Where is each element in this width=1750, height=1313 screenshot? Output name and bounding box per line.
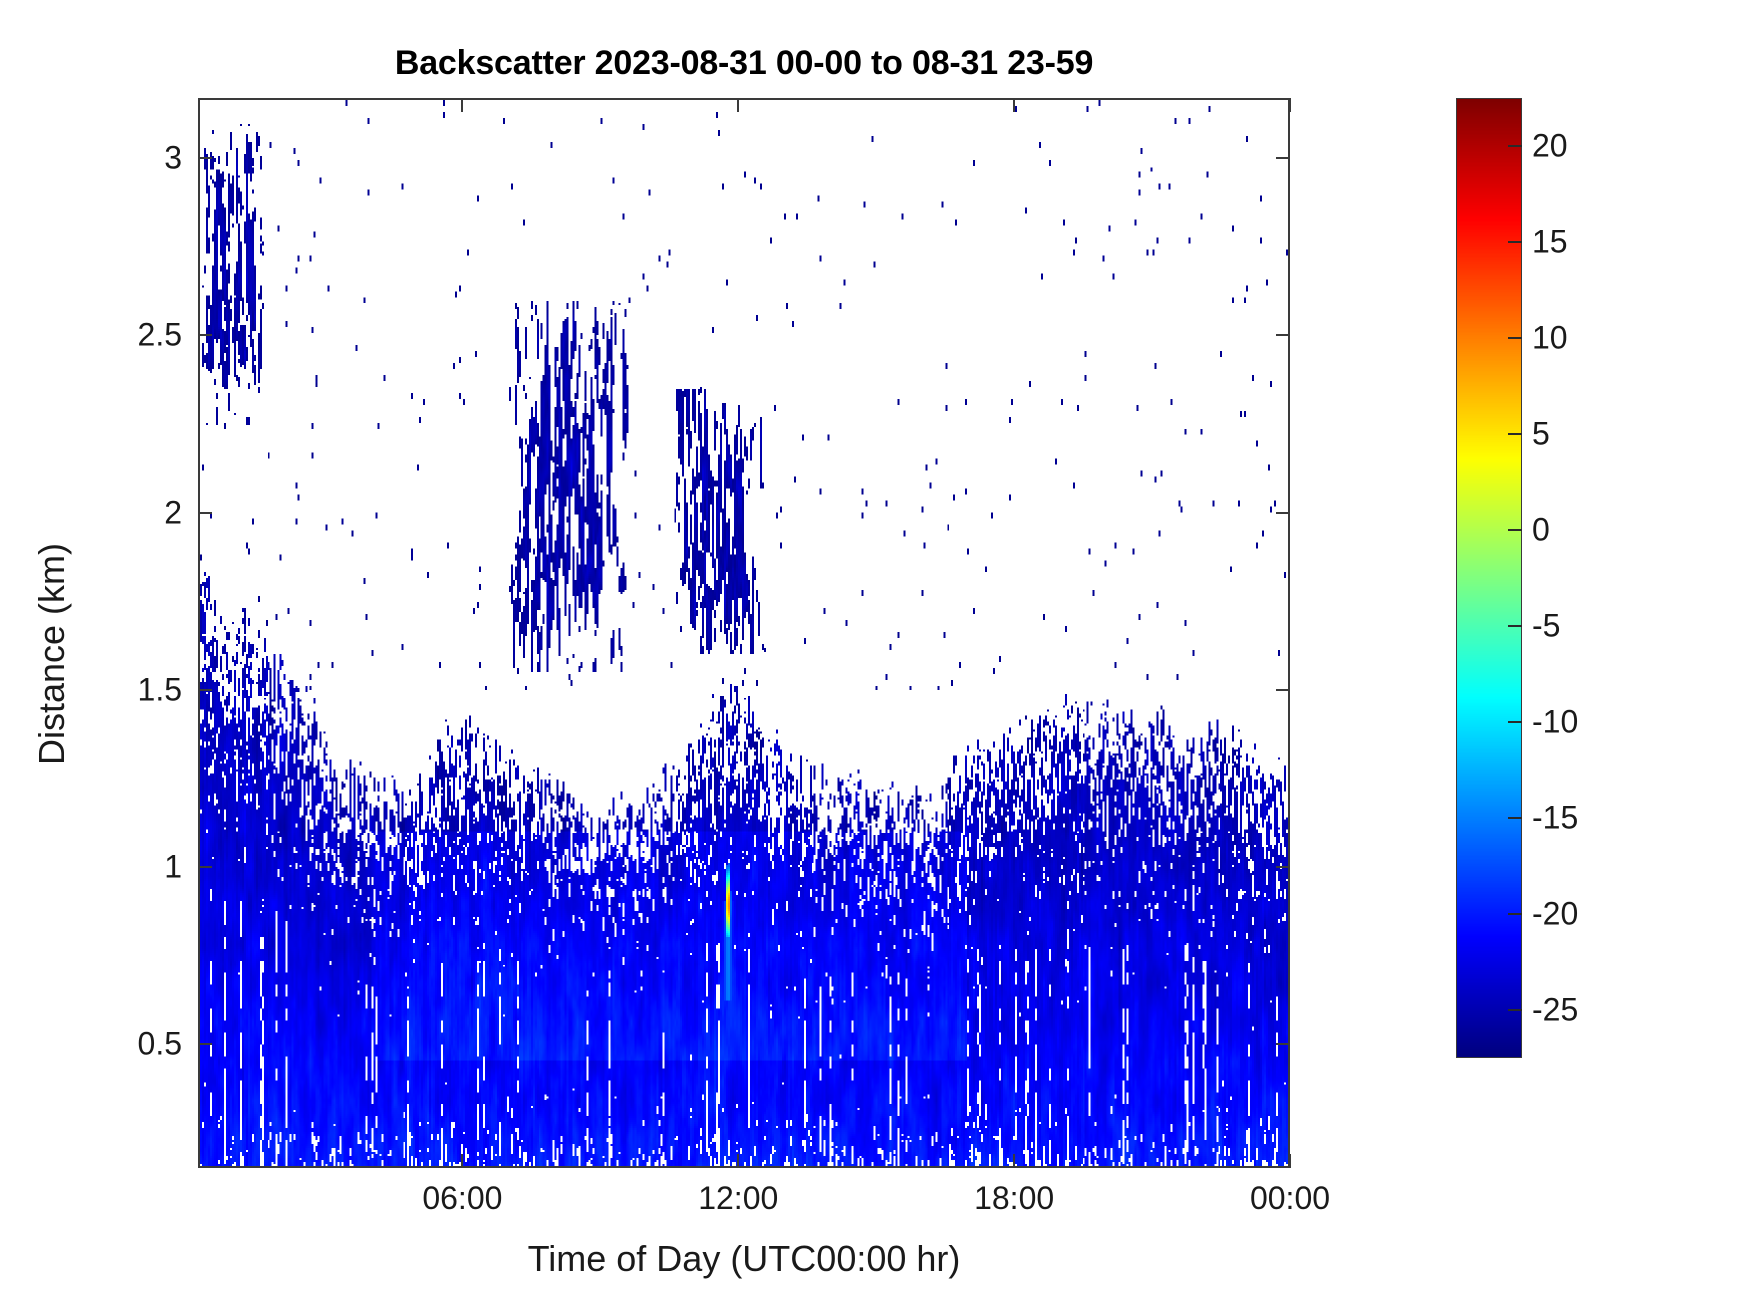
y-axis-tick-label: 1.5 [138, 671, 182, 708]
colorbar-tick-mark [1508, 529, 1522, 531]
y-axis-tick-mark-right [1276, 1043, 1290, 1045]
colorbar-tick-label: -5 [1532, 608, 1560, 645]
y-axis-tick-mark-right [1276, 866, 1290, 868]
y-axis-label: Distance (km) [31, 434, 73, 874]
y-axis-tick-mark [198, 689, 212, 691]
x-axis-tick-label: 06:00 [422, 1180, 502, 1217]
y-axis-tick-label: 1 [164, 848, 182, 885]
y-axis-tick-mark [198, 157, 212, 159]
y-axis-tick-mark [198, 1043, 212, 1045]
colorbar-tick-mark [1508, 817, 1522, 819]
x-axis-tick-mark [461, 1154, 463, 1168]
y-axis-tick-label: 0.5 [138, 1025, 182, 1062]
backscatter-figure: Backscatter 2023-08-31 00-00 to 08-31 23… [0, 0, 1750, 1313]
colorbar-tick-mark [1508, 241, 1522, 243]
y-axis-tick-label: 2 [164, 494, 182, 531]
x-axis-tick-mark-top [737, 98, 739, 112]
backscatter-heatmap [200, 100, 1288, 1166]
x-axis-tick-mark-top [1013, 98, 1015, 112]
colorbar-tick-label: 0 [1532, 512, 1550, 549]
y-axis-tick-mark [198, 866, 212, 868]
y-axis-tick-label: 2.5 [138, 317, 182, 354]
x-axis-tick-mark [1013, 1154, 1015, 1168]
colorbar-tick-label: -20 [1532, 896, 1578, 933]
colorbar-tick-mark [1508, 145, 1522, 147]
colorbar-tick-label: 15 [1532, 224, 1568, 261]
colorbar-tick-mark [1508, 433, 1522, 435]
colorbar-tick-label: 20 [1532, 128, 1568, 165]
x-axis-tick-label: 12:00 [698, 1180, 778, 1217]
y-axis-tick-mark [198, 512, 212, 514]
y-axis-tick-mark-right [1276, 689, 1290, 691]
colorbar-tick-label: -15 [1532, 800, 1578, 837]
x-axis-tick-mark-top [461, 98, 463, 112]
y-axis-tick-label: 3 [164, 140, 182, 177]
y-axis-tick-labels: 0.511.522.53 [60, 0, 182, 1313]
y-axis-tick-mark-right [1276, 334, 1290, 336]
colorbar-tick-mark [1508, 721, 1522, 723]
colorbar-tick-mark [1508, 913, 1522, 915]
colorbar-tick-mark [1508, 1009, 1522, 1011]
x-axis-tick-mark-top [1289, 98, 1291, 112]
plot-area[interactable] [198, 98, 1290, 1168]
colorbar-tick-label: -10 [1532, 704, 1578, 741]
colorbar-tick-label: 5 [1532, 416, 1550, 453]
colorbar-tick-label: -25 [1532, 992, 1578, 1029]
y-axis-tick-mark-right [1276, 512, 1290, 514]
y-axis-tick-mark-right [1276, 157, 1290, 159]
x-axis-tick-label: 18:00 [974, 1180, 1054, 1217]
colorbar-tick-mark [1508, 337, 1522, 339]
x-axis-tick-mark [1289, 1154, 1291, 1168]
colorbar-tick-label: 10 [1532, 320, 1568, 357]
y-axis-tick-mark [198, 334, 212, 336]
x-axis-tick-mark [737, 1154, 739, 1168]
page-title: Backscatter 2023-08-31 00-00 to 08-31 23… [198, 44, 1290, 83]
x-axis-tick-label: 00:00 [1250, 1180, 1330, 1217]
colorbar-tick-mark [1508, 625, 1522, 627]
x-axis-label: Time of Day (UTC00:00 hr) [198, 1238, 1290, 1280]
